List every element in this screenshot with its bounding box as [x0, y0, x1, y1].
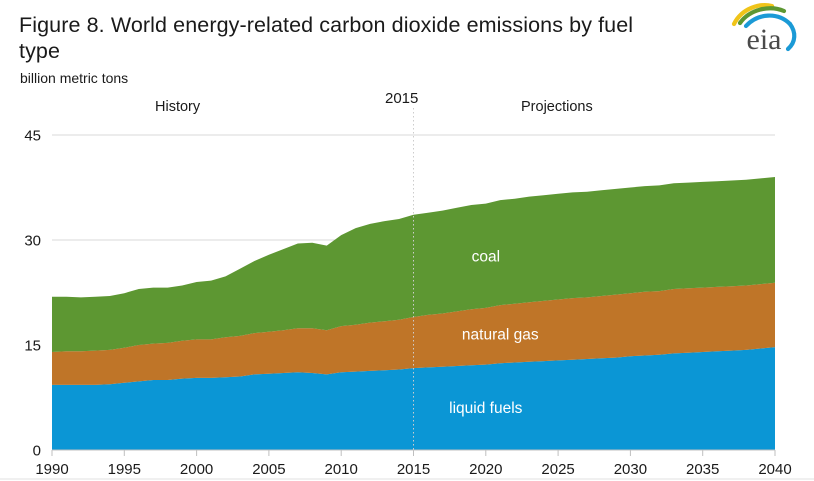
stacked-area-chart: 0153045 19901995200020052010201520202025… [0, 0, 814, 481]
x-tick-label-2000: 2000 [180, 461, 213, 478]
figure-container: Figure 8. World energy-related carbon di… [0, 0, 814, 481]
y-axis-tick-labels: 0153045 [24, 128, 41, 460]
series-label-coal: coal [472, 248, 500, 265]
x-tick-label-2020: 2020 [469, 461, 502, 478]
x-tick-label-1990: 1990 [35, 461, 68, 478]
x-tick-label-2030: 2030 [614, 461, 647, 478]
series-label-natural-gas: natural gas [462, 327, 539, 344]
x-tick-label-2005: 2005 [252, 461, 285, 478]
y-tick-label-0: 0 [33, 443, 41, 460]
x-axis-tick-labels: 1990199520002005201020152020202520302035… [35, 461, 791, 478]
series-label-liquid-fuels: liquid fuels [449, 400, 522, 417]
x-tick-label-2035: 2035 [686, 461, 719, 478]
y-tick-label-45: 45 [24, 128, 41, 145]
axis-group [52, 450, 775, 456]
x-tick-label-2040: 2040 [758, 461, 791, 478]
y-tick-label-15: 15 [24, 338, 41, 355]
x-tick-label-1995: 1995 [108, 461, 141, 478]
y-tick-label-30: 30 [24, 233, 41, 250]
x-tick-label-2010: 2010 [325, 461, 358, 478]
x-tick-label-2025: 2025 [541, 461, 574, 478]
x-tick-label-2015: 2015 [397, 461, 430, 478]
